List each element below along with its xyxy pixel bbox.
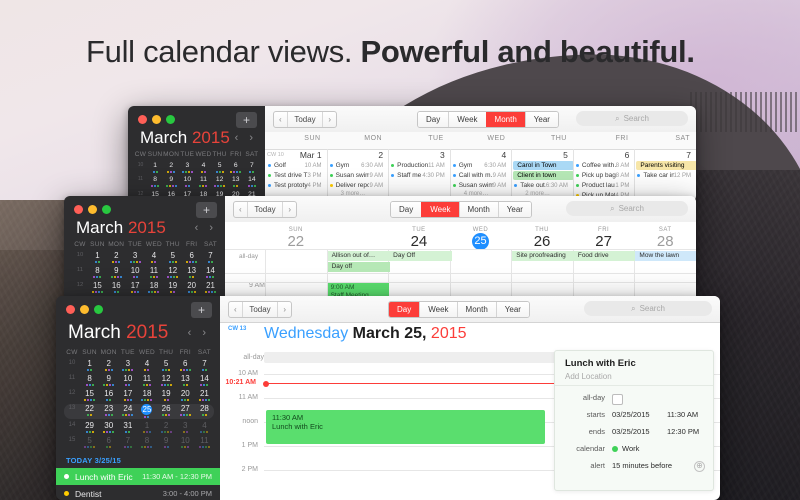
mini-event-dots (107, 291, 126, 294)
month-date-number[interactable]: 5 (511, 150, 568, 160)
mini-day-cell[interactable]: 18 (137, 389, 156, 398)
prev-icon[interactable]: ‹ (229, 302, 243, 317)
mini-event-dots (195, 399, 214, 402)
search-icon: ⌕ (615, 111, 619, 126)
mini-day-cell[interactable]: 14 (195, 374, 214, 383)
today-button-day[interactable]: ‹ Today › (228, 301, 292, 318)
mini-day-cell[interactable]: 1 (137, 421, 156, 430)
view-tab-week[interactable]: Week (448, 112, 485, 127)
field-label: starts (555, 410, 605, 419)
event-detail-popover[interactable]: Lunch with Eric Add Location all-daystar… (554, 350, 714, 491)
mini-day-cell[interactable]: 14 (201, 266, 220, 275)
mini-day-cell[interactable]: 2 (157, 421, 176, 430)
calendar-window-day[interactable]: + March 2015 ‹ › CWSUNMONTUEWEDTHUFRISAT… (56, 296, 720, 500)
month-day-header: MON (327, 135, 383, 142)
mini-week-row[interactable]: 11891011121314 (64, 374, 214, 387)
mini-day-cell[interactable]: 6 (176, 359, 195, 368)
mini-calendar-grid-day[interactable]: CWSUNMONTUEWEDTHUFRISAT10123456711891011… (64, 348, 214, 449)
week-day-header[interactable]: SAT28 (634, 227, 696, 250)
close-icon[interactable] (74, 205, 83, 214)
mini-event-dots (163, 171, 179, 174)
mini-day-cell[interactable]: 20 (182, 281, 201, 290)
view-tab-year[interactable]: Year (498, 202, 531, 217)
next-icon[interactable]: › (277, 302, 291, 317)
mini-year-label: 2015 (126, 322, 168, 343)
search-input-month[interactable]: ⌕Search (576, 111, 688, 126)
event-title: Susan swim… (336, 172, 370, 179)
calendar-window-month[interactable]: + March 2015 ‹ › CWSUNMONTUEWEDTHUFRISAT… (128, 106, 696, 202)
view-tab-year[interactable]: Year (525, 112, 558, 127)
mini-day-cell[interactable]: 21 (201, 281, 220, 290)
window-controls[interactable] (138, 115, 175, 124)
week-allday-event[interactable]: Site proofreading (512, 251, 575, 261)
calendar-name: Work (622, 444, 639, 453)
mini-day-cell[interactable]: 24 (118, 404, 137, 413)
today-button-month[interactable]: ‹ Today › (273, 111, 337, 128)
event-title: Gym (336, 162, 362, 169)
popover-row-starts[interactable]: starts03/25/201511:30 AM (555, 410, 713, 423)
search-placeholder-month: Search (624, 114, 649, 123)
mini-event-dots (118, 446, 137, 449)
month-event-chip[interactable]: Susan swim…9 AM (328, 171, 387, 180)
mini-week-row[interactable]: 11891011121314 (134, 175, 260, 188)
month-event-chip[interactable]: Take out…6:30 AM (512, 181, 571, 190)
month-event-chip[interactable]: Gym6:30 AM (451, 161, 510, 170)
event-color-dot (637, 174, 640, 177)
mini-day-cell[interactable]: 3 (179, 161, 195, 170)
month-event-chip[interactable]: Staff me…4:30 PM (389, 171, 448, 180)
week-day-header[interactable]: TUE24 (388, 227, 450, 250)
sidebar-event-item[interactable]: Lunch with Eric11:30 AM - 12:30 PM (56, 468, 220, 485)
week-day-header[interactable]: FRI27 (573, 227, 635, 250)
mini-event-dots (195, 171, 211, 174)
month-date-number[interactable]: 6 (573, 150, 630, 160)
mini-event-dots (80, 431, 99, 434)
search-placeholder-week: Search (619, 204, 644, 213)
view-tab-week[interactable]: Week (421, 202, 458, 217)
month-view-pane: ‹ Today › DayWeekMonthYear ⌕Search SUNMO… (265, 106, 696, 202)
allday-checkbox[interactable] (612, 394, 623, 405)
search-input-day[interactable]: ⌕Search (584, 301, 712, 316)
mini-calendar-title-day: March 2015 (68, 322, 168, 344)
view-tab-month[interactable]: Month (486, 112, 525, 127)
mini-day-cell[interactable]: 27 (176, 404, 195, 413)
mini-month-label: March (68, 322, 121, 343)
today-label[interactable]: Today (248, 202, 283, 217)
mini-day-cell[interactable]: 28 (195, 404, 214, 413)
day-hour-label: 11 AM (220, 394, 258, 401)
mini-day-cell[interactable]: 7 (201, 251, 220, 260)
current-time-label: 10:21 AM (220, 379, 256, 386)
mini-day-header: THU (212, 150, 228, 159)
mini-day-cell[interactable]: 7 (195, 359, 214, 368)
mini-day-cell[interactable]: 10 (126, 266, 145, 275)
field-value-date[interactable]: 15 minutes before (612, 461, 672, 470)
mini-week-row[interactable]: 101234567 (134, 161, 260, 174)
mini-week-row[interactable]: 11891011121314 (72, 266, 220, 279)
mini-event-dots (99, 414, 118, 417)
view-tab-year[interactable]: Year (496, 302, 529, 317)
prev-icon[interactable]: ‹ (234, 202, 248, 217)
popover-row-calendar[interactable]: calendarWork (555, 444, 713, 457)
field-value-time[interactable]: 11:30 AM (667, 410, 698, 419)
event-title: Pick up bagels (582, 172, 616, 179)
month-event-chip[interactable]: Product lau…1 PM (574, 181, 633, 190)
mini-day-cell[interactable]: 5 (80, 436, 99, 445)
mini-event-dots (99, 399, 118, 402)
mini-day-cell[interactable]: 5 (163, 251, 182, 260)
mini-day-cell[interactable]: 26 (157, 404, 176, 413)
mini-event-dots (201, 261, 220, 264)
mini-event-dots (99, 446, 118, 449)
mini-day-cell[interactable]: 30 (99, 421, 118, 430)
event-time: 10 AM (305, 163, 322, 169)
mini-event-dots (163, 291, 182, 294)
mini-day-cell[interactable]: 12 (163, 266, 182, 275)
month-allday-chip[interactable]: Parents visiting (636, 161, 696, 170)
mini-day-cell[interactable]: 3 (118, 359, 137, 368)
mini-day-cell[interactable]: 17 (118, 389, 137, 398)
popover-row-allday[interactable]: all-day (555, 393, 713, 406)
maximize-icon[interactable] (102, 205, 111, 214)
mini-day-cell[interactable]: 6 (182, 251, 201, 260)
mini-event-dots (118, 369, 137, 372)
week-allday-event[interactable]: Day off (328, 262, 391, 272)
mini-day-cell[interactable]: 10 (176, 436, 195, 445)
month-date-number[interactable]: 7 (634, 150, 691, 160)
mini-day-cell[interactable]: 9 (157, 436, 176, 445)
calendar-select[interactable]: Work (612, 444, 639, 453)
event-time: 11:30 AM (272, 413, 545, 422)
mini-cw-header: CW (72, 240, 88, 249)
view-tab-month[interactable]: Month (459, 202, 498, 217)
week-allday-event[interactable]: Food drive (574, 251, 637, 261)
mini-event-dots (99, 369, 118, 372)
mini-day-header: WED (137, 348, 156, 357)
maximize-icon[interactable] (166, 115, 175, 124)
month-event-chip[interactable]: Take car in…12 PM (635, 171, 694, 180)
mini-day-cell[interactable]: 22 (80, 404, 99, 413)
month-event-chip[interactable]: Pick up bagels8 AM (574, 171, 633, 180)
mini-day-cell[interactable]: 1 (88, 251, 107, 260)
view-tab-week[interactable]: Week (419, 302, 456, 317)
mini-cw-header: CW (64, 348, 80, 357)
event-title: Call with m… (459, 172, 493, 179)
mini-week-row[interactable]: 1322232425262728 (64, 404, 214, 419)
mini-day-cell[interactable]: 29 (80, 421, 99, 430)
calendar-window-week[interactable]: + March 2015 ‹ › CWSUNMONTUEWEDTHUFRISAT… (64, 196, 696, 304)
next-icon[interactable]: › (282, 202, 296, 217)
mini-event-dots (147, 185, 163, 188)
mini-day-cell[interactable]: 4 (145, 251, 164, 260)
event-color-dot (330, 164, 333, 167)
mini-event-dots (176, 369, 195, 372)
week-day-number[interactable]: 28 (634, 233, 696, 250)
add-event-button-day[interactable]: + (191, 302, 212, 318)
mini-day-header: WED (195, 150, 211, 159)
mini-calendar-nav-week[interactable]: ‹ › (195, 222, 217, 234)
add-event-button-week[interactable]: + (196, 202, 217, 218)
mini-week-row[interactable]: 1215161718192021 (64, 389, 214, 402)
close-icon[interactable] (138, 115, 147, 124)
add-alert-icon[interactable]: ⊕ (694, 461, 705, 472)
week-grid-line (225, 273, 696, 274)
mini-day-cell[interactable]: 31 (118, 421, 137, 430)
week-day-number[interactable]: 25 (472, 233, 489, 250)
view-tab-day[interactable]: Day (391, 202, 421, 217)
event-time: 6:30 AM (546, 183, 568, 189)
mini-event-dots (163, 276, 182, 279)
mini-day-cell[interactable]: 8 (147, 175, 163, 184)
mini-event-dots (157, 399, 176, 402)
week-day-header[interactable]: THU26 (511, 227, 573, 250)
mini-day-cell[interactable]: 12 (157, 374, 176, 383)
mini-day-cell[interactable]: 20 (176, 389, 195, 398)
month-event-chip[interactable]: Test prototype4 PM (266, 181, 325, 190)
mini-day-cell[interactable]: 23 (99, 404, 118, 413)
mini-day-cell[interactable]: 2 (107, 251, 126, 260)
mini-day-cell[interactable]: 9 (107, 266, 126, 275)
month-event-chip[interactable]: Gym6:30 AM (328, 161, 387, 170)
mini-day-cell[interactable]: 6 (228, 161, 244, 170)
day-event-block[interactable]: 11:30 AMLunch with Eric (266, 410, 545, 444)
day-view-pane: ‹ Today › DayWeekMonthYear ⌕Search CW 13… (220, 296, 720, 500)
week-day-number[interactable]: 26 (511, 233, 573, 250)
month-event-chip[interactable]: Susan swim…9 AM (451, 181, 510, 190)
week-day-number[interactable]: 27 (573, 233, 635, 250)
month-allday-chip[interactable]: Carol in Town (513, 161, 574, 170)
mini-day-cell[interactable]: 7 (244, 161, 260, 170)
mini-calendar-sidebar: + March 2015 ‹ › CWSUNMONTUEWEDTHUFRISAT… (128, 106, 265, 202)
mini-day-cell[interactable]: 17 (126, 281, 145, 290)
event-time: 4 PM (308, 183, 322, 189)
mini-calendar-grid-week[interactable]: CWSUNMONTUEWEDTHUFRISAT10123456711891011… (72, 240, 220, 304)
month-event-chip[interactable]: Deliver reports9 AM (328, 181, 387, 190)
month-day-headers: SUNMONTUEWEDTHUFRISAT (265, 132, 696, 150)
sidebar-event-item[interactable]: Dentist3:00 - 4:00 PM (56, 485, 220, 500)
mini-day-header: MON (163, 150, 179, 159)
mini-day-cell[interactable]: 12 (212, 175, 228, 184)
mini-day-header: SUN (80, 348, 99, 357)
mini-week-row[interactable]: 101234567 (72, 251, 220, 264)
month-event-chip[interactable]: Call with m…9 AM (451, 171, 510, 180)
mini-event-dots (88, 291, 107, 294)
week-allday-event[interactable]: Day Off (389, 251, 452, 261)
week-day-number[interactable]: 24 (388, 233, 450, 250)
event-time: 4:30 PM (422, 173, 444, 179)
mini-day-cell[interactable]: 8 (88, 266, 107, 275)
mini-day-cell[interactable]: 13 (182, 266, 201, 275)
mini-day-cell[interactable]: 4 (195, 421, 214, 430)
event-title: Staff me… (397, 172, 422, 179)
mini-day-cell[interactable]: 16 (99, 389, 118, 398)
window-controls-week[interactable] (74, 205, 111, 214)
mini-cw-header: CW (134, 150, 147, 159)
field-value-date[interactable]: 03/25/2015 (612, 427, 650, 436)
mini-day-cell[interactable]: 8 (137, 436, 156, 445)
minimize-icon[interactable] (152, 115, 161, 124)
mini-day-cell[interactable]: 19 (157, 389, 176, 398)
minimize-icon[interactable] (80, 305, 89, 314)
mini-week-number: 12 (64, 389, 80, 402)
today-event-list[interactable]: Lunch with Eric11:30 AM - 12:30 PMDentis… (56, 468, 220, 500)
month-allday-chip[interactable]: Client in town (513, 171, 574, 180)
mini-day-cell[interactable]: 3 (176, 421, 195, 430)
field-value-date[interactable]: 03/25/2015 (612, 410, 650, 419)
popover-row-ends[interactable]: ends03/25/201512:30 PM (555, 427, 713, 440)
week-day-number[interactable]: 22 (265, 233, 327, 250)
month-event-chip[interactable]: Test drive T…3 PM (266, 171, 325, 180)
mini-event-dots (147, 171, 163, 174)
month-event-chip[interactable]: Golf10 AM (266, 161, 325, 170)
mini-day-cell[interactable]: 25 (141, 404, 152, 415)
field-label: all-day (555, 393, 605, 402)
mini-day-cell[interactable]: 2 (163, 161, 179, 170)
popover-row-alert[interactable]: alert15 minutes before⊕ (555, 461, 713, 474)
mini-week-row[interactable]: 15567891011 (64, 436, 214, 449)
mini-day-header: THU (163, 240, 182, 249)
today-label[interactable]: Today (243, 302, 278, 317)
mini-day-cell[interactable]: 9 (99, 374, 118, 383)
mini-event-dots (80, 384, 99, 387)
week-allday-event[interactable]: Mow the lawn (635, 251, 696, 261)
week-day-header[interactable]: SUN22 (265, 227, 327, 250)
mini-day-cell[interactable]: 4 (195, 161, 211, 170)
mini-calendar-grid[interactable]: CWSUNMONTUEWEDTHUFRISAT10123456711891011… (134, 150, 260, 202)
event-color-dot (391, 174, 394, 177)
day-cw-label: CW 13 (228, 326, 246, 332)
mini-day-cell[interactable]: 5 (157, 359, 176, 368)
page-title: Full calendar views. Powerful and beauti… (86, 34, 695, 70)
today-button-week[interactable]: ‹ Today › (233, 201, 297, 218)
view-tab-month[interactable]: Month (457, 302, 496, 317)
event-color-dot (453, 174, 456, 177)
mini-day-cell[interactable]: 13 (176, 374, 195, 383)
month-event-chip[interactable]: Production…11 AM (389, 161, 448, 170)
window-controls-day[interactable] (66, 305, 103, 314)
view-tab-day[interactable]: Day (418, 112, 448, 127)
event-time: 9:00 AM (331, 284, 390, 292)
mini-event-dots (244, 171, 260, 174)
mini-event-dots (212, 185, 228, 188)
search-input-week[interactable]: ⌕Search (566, 201, 688, 216)
mini-day-header: MON (99, 348, 118, 357)
week-day-headers[interactable]: SUN22TUE24WED25THU26FRI27SAT28 (225, 222, 696, 250)
mini-calendar-nav-day[interactable]: ‹ › (188, 327, 210, 339)
mini-day-cell[interactable]: 14 (244, 175, 260, 184)
event-name: Dentist (75, 489, 163, 499)
mini-day-cell[interactable]: 11 (137, 374, 156, 383)
mini-week-row[interactable]: 101234567 (64, 359, 214, 372)
mini-day-cell[interactable]: 19 (163, 281, 182, 290)
add-event-button[interactable]: + (236, 112, 257, 128)
month-date-number[interactable]: 4 (450, 150, 507, 160)
month-date-number[interactable]: 2 (327, 150, 384, 160)
mini-day-cell[interactable]: 1 (80, 359, 99, 368)
mini-week-number: 11 (134, 175, 147, 188)
view-switcher-month[interactable]: DayWeekMonthYear (417, 111, 559, 128)
month-grid[interactable]: Mar 1Golf10 AMTest drive T…3 PMTest prot… (265, 149, 696, 202)
event-time: 9 AM (493, 173, 507, 179)
mini-day-header: SUN (88, 240, 107, 249)
mini-day-cell[interactable]: 8 (80, 374, 99, 383)
mini-day-cell[interactable]: 3 (126, 251, 145, 260)
mini-day-cell[interactable]: 4 (137, 359, 156, 368)
mini-day-cell[interactable]: 18 (145, 281, 164, 290)
event-title: Take car in… (643, 172, 673, 179)
mini-day-header: FRI (182, 240, 201, 249)
event-time: 6:30 AM (484, 163, 506, 169)
day-year: 2015 (431, 325, 467, 342)
mini-event-dots (163, 261, 182, 264)
mini-day-header: TUE (118, 348, 137, 357)
mini-year-label: 2015 (128, 218, 166, 237)
day-hour-label: 2 PM (220, 466, 258, 473)
mini-day-cell[interactable]: 11 (195, 175, 211, 184)
minimize-icon[interactable] (88, 205, 97, 214)
today-label[interactable]: Today (288, 112, 323, 127)
mini-day-cell[interactable]: 11 (195, 436, 214, 445)
prev-icon[interactable]: ‹ (274, 112, 288, 127)
mini-day-cell[interactable]: 7 (118, 436, 137, 445)
mini-calendar-nav[interactable]: ‹ › (235, 132, 257, 144)
maximize-icon[interactable] (94, 305, 103, 314)
mini-week-row[interactable]: 142930311234 (64, 421, 214, 434)
mini-event-dots (80, 369, 99, 372)
mini-day-cell[interactable]: 15 (80, 389, 99, 398)
mini-event-dots (179, 185, 195, 188)
mini-day-cell[interactable]: 5 (212, 161, 228, 170)
mini-day-header: SAT (195, 348, 214, 357)
mini-day-cell[interactable]: 1 (147, 161, 163, 170)
week-day-header[interactable]: WED25 (450, 227, 512, 250)
mini-day-cell[interactable]: 2 (99, 359, 118, 368)
mini-day-cell[interactable]: 21 (195, 389, 214, 398)
event-color-dot (64, 491, 69, 496)
event-name: Lunch with Eric (75, 472, 142, 482)
week-allday-event[interactable]: Allison out of… (328, 251, 391, 261)
mini-event-dots (137, 416, 156, 419)
mini-year-label: 2015 (192, 128, 230, 147)
month-event-chip[interactable]: Coffee with…8 AM (574, 161, 633, 170)
field-value-time[interactable]: 12:30 PM (667, 427, 699, 436)
close-icon[interactable] (66, 305, 75, 314)
mini-event-dots (118, 431, 137, 434)
search-icon: ⌕ (610, 201, 614, 216)
mini-event-dots (157, 446, 176, 449)
mini-event-dots (244, 185, 260, 188)
mini-week-row[interactable]: 1215161718192021 (72, 281, 220, 294)
month-date-number[interactable]: 3 (388, 150, 445, 160)
event-color-dot (576, 184, 579, 187)
view-switcher-day[interactable]: DayWeekMonthYear (388, 301, 530, 318)
mini-day-cell[interactable]: 15 (88, 281, 107, 290)
mini-day-cell[interactable]: 10 (118, 374, 137, 383)
mini-day-cell[interactable]: 11 (145, 266, 164, 275)
next-icon[interactable]: › (322, 112, 336, 127)
mini-event-dots (80, 446, 99, 449)
mini-day-cell[interactable]: 13 (228, 175, 244, 184)
popover-location-input[interactable]: Add Location (565, 372, 612, 381)
mini-day-cell[interactable]: 10 (179, 175, 195, 184)
view-tab-day[interactable]: Day (389, 302, 419, 317)
mini-day-cell[interactable]: 9 (163, 175, 179, 184)
mini-day-cell[interactable]: 6 (99, 436, 118, 445)
mini-day-cell[interactable]: 16 (107, 281, 126, 290)
search-icon: ⌕ (631, 301, 635, 316)
mini-event-dots (145, 261, 164, 264)
view-switcher-week[interactable]: DayWeekMonthYear (390, 201, 532, 218)
